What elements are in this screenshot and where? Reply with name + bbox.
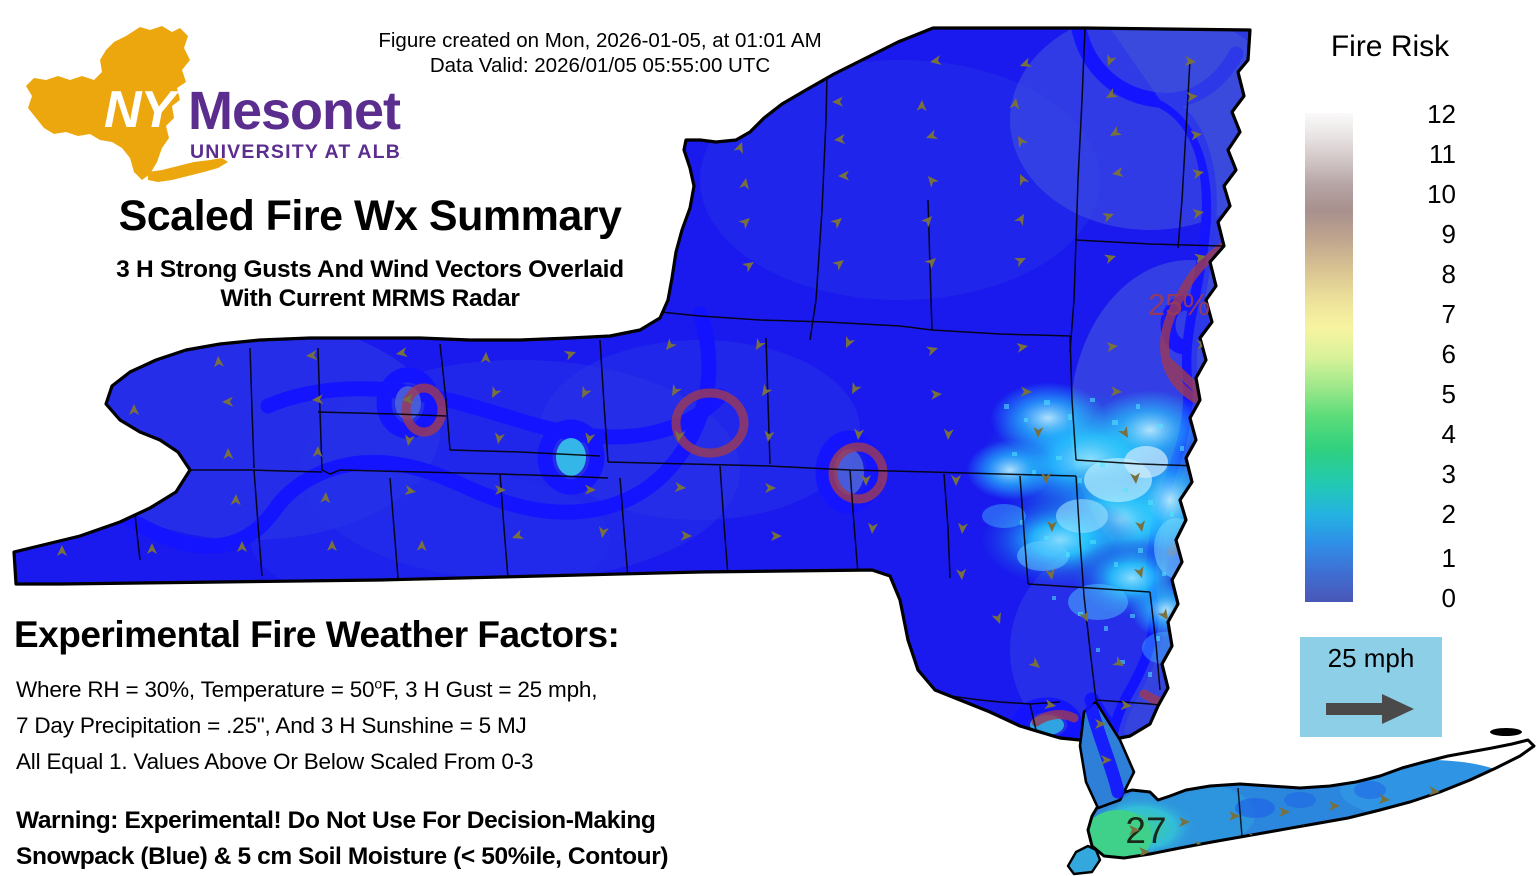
colorbar-tick: 11 [1429, 141, 1456, 167]
warning-block: Warning: Experimental! Do Not Use For De… [16, 803, 668, 875]
factors-body: Where RH = 30%, Temperature = 50oF, 3 H … [16, 672, 597, 780]
long-island-outline [1088, 740, 1534, 858]
factors-line-1: Where RH = 30%, Temperature = 50oF, 3 H … [16, 672, 597, 708]
long-island-group: 27 [1068, 728, 1536, 876]
wind-legend-arrow-icon [1326, 693, 1416, 730]
svg-text:UNIVERSITY AT ALBANY: UNIVERSITY AT ALBANY [190, 141, 402, 163]
colorbar-tick: 2 [1442, 501, 1456, 527]
page-subtitle: 3 H Strong Gusts And Wind Vectors Overla… [40, 255, 700, 313]
colorbar-tick: 5 [1442, 381, 1456, 407]
wind-vector-legend: 25 mph [1300, 637, 1442, 737]
degree-symbol: o [374, 676, 382, 692]
fire-risk-colorbar [1305, 113, 1353, 602]
colorbar-tick: 8 [1442, 261, 1456, 287]
wind-vectors-hudson [1095, 719, 1112, 765]
colorbar-tick: 3 [1442, 461, 1456, 487]
factors-line-2: 7 Day Precipitation = .25", And 3 H Suns… [16, 708, 597, 744]
factors-line-3: All Equal 1. Values Above Or Below Scale… [16, 744, 597, 780]
subtitle-line-2: With Current MRMS Radar [40, 284, 700, 313]
colorbar-tick: 12 [1427, 101, 1456, 127]
colorbar-tick: 10 [1427, 181, 1456, 207]
subtitle-line-1: 3 H Strong Gusts And Wind Vectors Overla… [40, 255, 700, 284]
colorbar-tick: 1 [1442, 545, 1456, 571]
factors-line-1b: F, 3 H Gust = 25 mph, [382, 677, 597, 702]
colorbar-tick: 9 [1442, 221, 1456, 247]
colorbar-tick: 0 [1442, 585, 1456, 611]
radar-speckle [1004, 398, 1201, 677]
soil-moisture-label: 25% [1148, 287, 1210, 322]
staten-island [1068, 846, 1100, 874]
colorbar-tick: 6 [1442, 341, 1456, 367]
colorbar-tick-labels: 12 11 10 9 8 7 6 5 4 3 2 1 0 [1412, 113, 1478, 602]
page-title: Scaled Fire Wx Summary [40, 192, 700, 241]
figure-timestamp-block: Figure created on Mon, 2026-01-05, at 01… [300, 28, 900, 78]
factors-line-1a: Where RH = 30%, Temperature = 50 [16, 677, 374, 702]
data-valid-line: Data Valid: 2026/01/05 05:55:00 UTC [300, 53, 900, 78]
warning-line-2: Snowpack (Blue) & 5 cm Soil Moisture (< … [16, 839, 668, 875]
factors-heading: Experimental Fire Weather Factors: [14, 614, 619, 656]
gust-label-nyc: 27 [1125, 810, 1166, 851]
mrms-radar-echoes [966, 382, 1216, 664]
svg-text:Mesonet: Mesonet [188, 81, 401, 141]
warning-line-1: Warning: Experimental! Do Not Use For De… [16, 803, 668, 839]
wind-legend-label: 25 mph [1300, 643, 1442, 674]
figure-created-line: Figure created on Mon, 2026-01-05, at 01… [300, 28, 900, 53]
colorbar-title: Fire Risk [1290, 30, 1490, 64]
colorbar-tick: 4 [1442, 421, 1456, 447]
lower-hudson-corridor [1080, 702, 1134, 808]
colorbar-tick: 7 [1442, 301, 1456, 327]
wind-vectors-long-island [1129, 779, 1490, 857]
